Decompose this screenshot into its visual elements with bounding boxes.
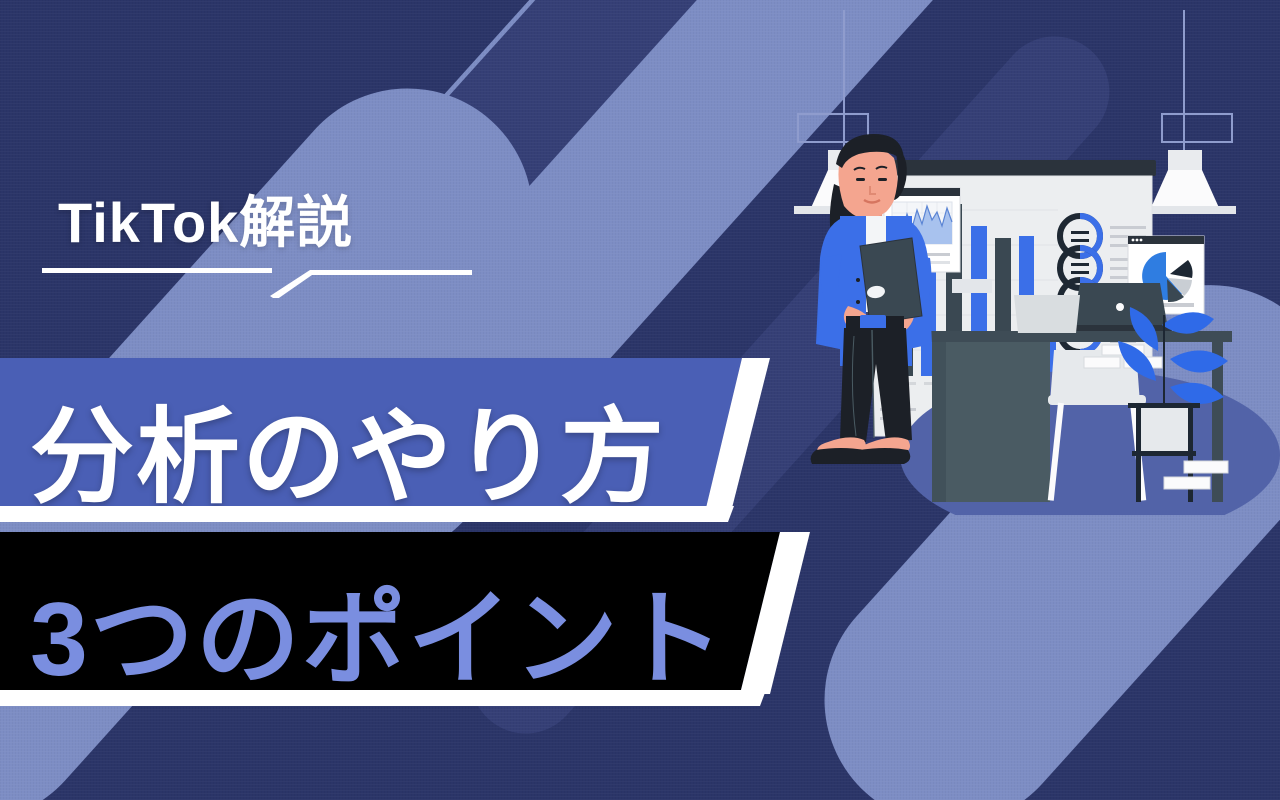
headline-band-primary: 分析のやり方 — [0, 358, 770, 508]
laptop-icon — [1066, 283, 1172, 332]
headline-secondary-text: 3つのポイント — [30, 554, 726, 705]
poster-canvas: TikTok解説 分析のやり方 3つのポイント — [0, 0, 1280, 800]
woman-with-tablet — [798, 130, 978, 490]
eyebrow-title: TikTok解説 — [58, 178, 353, 259]
headline-band-secondary: 3つのポイント — [0, 532, 810, 694]
band-secondary-underline — [0, 690, 810, 706]
band-primary-underline — [0, 506, 790, 522]
headline-primary-text: 分析のやり方 — [30, 372, 666, 523]
angled-underline-decoration — [42, 258, 472, 298]
